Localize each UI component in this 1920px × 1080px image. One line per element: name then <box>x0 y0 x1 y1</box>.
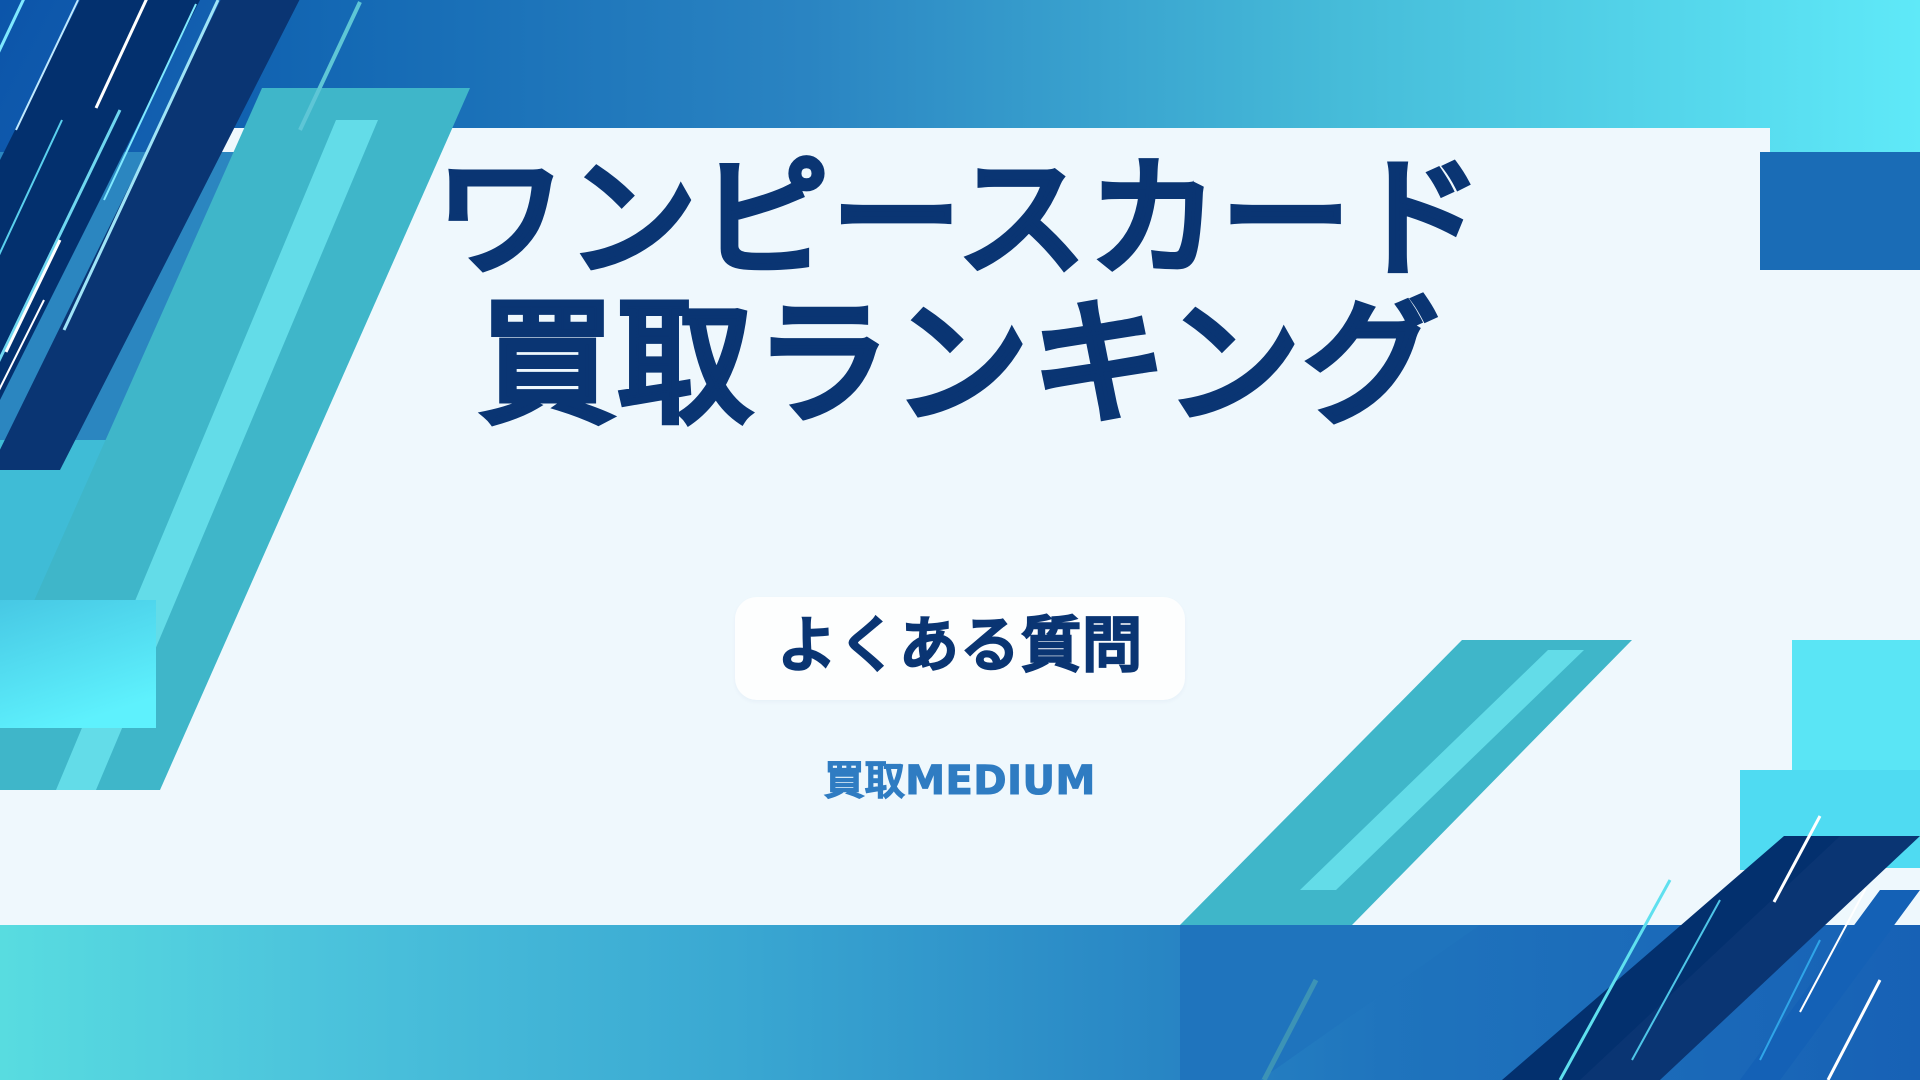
banner-canvas: ワンピースカード 買取ランキング よくある質問 買取MEDIUM <box>0 0 1920 1080</box>
faq-badge: よくある質問 <box>735 597 1185 700</box>
title-line-2: 買取ランキング <box>0 293 1920 439</box>
title-block: ワンピースカード 買取ランキング <box>0 150 1920 439</box>
bottom-gradient-band <box>0 925 1920 1080</box>
site-logo: 買取MEDIUM <box>824 748 1096 806</box>
badge-row: よくある質問 <box>0 597 1920 700</box>
title-line-1: ワンピースカード <box>0 150 1920 289</box>
logo-row: 買取MEDIUM <box>0 748 1920 806</box>
